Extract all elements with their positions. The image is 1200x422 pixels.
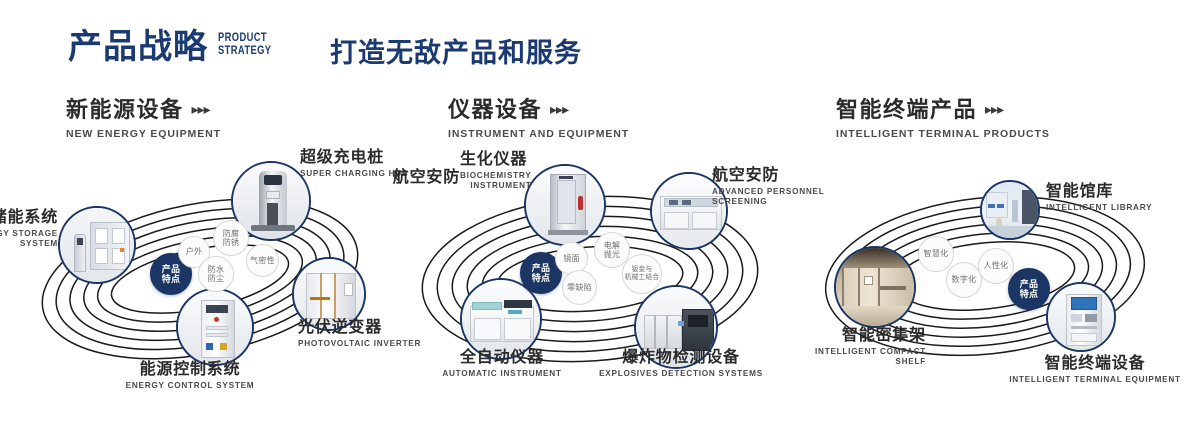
intelligent-compact-shelf-photo	[836, 248, 914, 326]
page-title-en: PRODUCT STRATEGY	[218, 31, 271, 57]
automatic-instrument-photo	[462, 280, 540, 358]
label-en-line1: EXPLOSIVES DETECTION SYSTEMS	[586, 369, 776, 379]
section-title-en-instrument: INSTRUMENT AND EQUIPMENT	[448, 128, 629, 140]
biochemistry-instrument-photo	[526, 166, 604, 244]
section-header-new-energy: 新能源设备▸▸▸ NEW ENERGY EQUIPMENT	[66, 96, 221, 140]
page-title-en-line2: STRATEGY	[218, 44, 271, 57]
core-bubble-line2: 特点	[1020, 289, 1039, 300]
label-en-line1: ENERGY STORAGE	[0, 229, 58, 239]
node-intelligent-compact-shelf[interactable]	[834, 246, 916, 328]
feature-line1: 钣金与	[625, 266, 659, 274]
feature-line1: 防腐	[223, 229, 240, 239]
product-strategy-infographic: 产品战略 PRODUCT STRATEGY 打造无敌产品和服务 新能源设备▸▸▸…	[0, 0, 1200, 422]
label-cn: 能源控制系统	[80, 360, 300, 379]
cluster-new-energy: 产品 特点 户外 防腐 防锈 防水 防尘 气密性 储能系统 ENERGY STO…	[0, 148, 400, 410]
section-title-cn-intelligent-terminal: 智能终端产品▸▸▸	[836, 96, 1050, 123]
label-en-line2: SYSTEM	[0, 239, 58, 249]
feature-line2: 机械工结合	[625, 274, 659, 282]
core-bubble-line1: 产品	[1020, 279, 1039, 290]
section-title-cn-instrument: 仪器设备▸▸▸	[448, 96, 629, 123]
node-energy-storage-system[interactable]	[58, 206, 136, 284]
core-bubble-line2: 特点	[162, 274, 181, 285]
feature-bubble-sheet-metal[interactable]: 钣金与 机械工结合	[622, 254, 662, 294]
feature-bubble-digitalization[interactable]: 数字化	[946, 262, 982, 298]
feature-line1: 数字化	[952, 275, 977, 285]
label-intelligent-compact-shelf: 智能密集架 INTELLIGENT COMPACT SHELF	[800, 326, 926, 367]
feature-line1: 防水	[208, 265, 225, 275]
feature-bubble-waterproof[interactable]: 防水 防尘	[198, 256, 234, 292]
label-en-line2: SHELF	[800, 357, 926, 367]
label-cn: 航空安防	[340, 168, 460, 187]
section-header-intelligent-terminal: 智能终端产品▸▸▸ INTELLIGENT TERMINAL PRODUCTS	[836, 96, 1050, 140]
label-intelligent-library: 智能馆库 INTELLIGENT LIBRARY	[1046, 182, 1152, 213]
feature-line1: 智慧化	[924, 249, 949, 259]
label-automatic-instrument: 全自动仪器 AUTOMATIC INSTRUMENT	[402, 348, 602, 379]
feature-bubble-zero-defect[interactable]: 零缺陷	[562, 270, 597, 305]
core-bubble-line1: 产品	[162, 264, 181, 275]
feature-line2: 抛光	[604, 250, 621, 260]
feature-line1: 电解	[604, 241, 621, 251]
label-explosives-detection-systems: 爆炸物检测设备 EXPLOSIVES DETECTION SYSTEMS	[586, 348, 776, 379]
energy-storage-system-photo	[60, 208, 134, 282]
page-title-cn: 产品战略	[68, 27, 208, 67]
chevrons-right-icon: ▸▸▸	[192, 96, 210, 122]
label-en-line1: AUTOMATIC INSTRUMENT	[402, 369, 602, 379]
node-energy-control-system[interactable]	[176, 288, 254, 366]
label-cn: 全自动仪器	[402, 348, 602, 367]
section-header-instrument: 仪器设备▸▸▸ INSTRUMENT AND EQUIPMENT	[448, 96, 629, 140]
feature-line1: 人性化	[984, 261, 1009, 271]
label-aviation-security-left: 航空安防	[340, 168, 460, 187]
label-en-line1: BIOCHEMISTRY	[460, 171, 531, 181]
cluster-intelligent-terminal: 产品 特点 智慧化 数字化 人性化 智能馆库 INTELLIGENT LIBRA…	[790, 148, 1190, 410]
core-bubble-intelligent-terminal[interactable]: 产品 特点	[1008, 268, 1050, 310]
energy-control-system-photo	[178, 290, 252, 364]
feature-bubble-intelligence[interactable]: 智慧化	[918, 236, 954, 272]
label-en-line1: INTELLIGENT LIBRARY	[1046, 203, 1152, 213]
label-cn: 智能终端设备	[1000, 354, 1190, 373]
feature-line1: 气密性	[250, 256, 275, 266]
chevrons-right-icon: ▸▸▸	[985, 96, 1003, 122]
feature-bubble-anticorrosion[interactable]: 防腐 防锈	[213, 220, 249, 256]
core-bubble-line2: 特点	[532, 273, 551, 284]
label-energy-control-system: 能源控制系统 ENERGY CONTROL SYSTEM	[80, 360, 300, 391]
section-title-en-intelligent-terminal: INTELLIGENT TERMINAL PRODUCTS	[836, 128, 1050, 140]
feature-bubble-humanization[interactable]: 人性化	[978, 248, 1014, 284]
feature-line1: 户外	[186, 247, 203, 257]
feature-line1: 镜面	[563, 254, 580, 264]
feature-line1: 零缺陷	[567, 283, 592, 293]
node-intelligent-library[interactable]	[980, 180, 1040, 240]
label-en-line1: ENERGY CONTROL SYSTEM	[80, 381, 300, 391]
feature-line2: 防尘	[208, 274, 225, 284]
feature-line2: 防锈	[223, 238, 240, 248]
label-cn: 生化仪器	[460, 150, 531, 169]
label-en-line1: INTELLIGENT COMPACT	[800, 347, 926, 357]
label-intelligent-terminal-equipment: 智能终端设备 INTELLIGENT TERMINAL EQUIPMENT	[1000, 354, 1190, 385]
label-cn: 智能密集架	[800, 326, 926, 345]
label-cn: 智能馆库	[1046, 182, 1152, 201]
cluster-instrument: 产品 特点 镜面 电解 抛光 钣金与 机械工结合 零缺陷 航空安防 生化仪器	[390, 148, 790, 410]
node-biochemistry-instrument[interactable]	[524, 164, 606, 246]
node-intelligent-terminal-equipment[interactable]	[1046, 282, 1116, 352]
label-en-line1: INTELLIGENT TERMINAL EQUIPMENT	[1000, 375, 1190, 385]
label-biochemistry-instrument: 生化仪器 BIOCHEMISTRY INSTRUMENT	[460, 150, 531, 191]
core-bubble-line1: 产品	[532, 263, 551, 274]
page-subtitle: 打造无敌产品和服务	[330, 36, 582, 70]
section-title-en-new-energy: NEW ENERGY EQUIPMENT	[66, 128, 221, 140]
label-energy-storage-system: 储能系统 ENERGY STORAGE SYSTEM	[0, 208, 58, 249]
label-cn: 爆炸物检测设备	[586, 348, 776, 367]
section-title-cn-new-energy: 新能源设备▸▸▸	[66, 96, 221, 123]
label-en-line2: INSTRUMENT	[460, 181, 531, 191]
label-cn: 储能系统	[0, 208, 58, 227]
intelligent-terminal-equipment-photo	[1048, 284, 1114, 350]
feature-bubble-airtightness[interactable]: 气密性	[246, 244, 279, 277]
intelligent-library-photo	[982, 182, 1038, 238]
page-title: 产品战略 PRODUCT STRATEGY	[68, 27, 286, 67]
chevrons-right-icon: ▸▸▸	[550, 96, 568, 122]
